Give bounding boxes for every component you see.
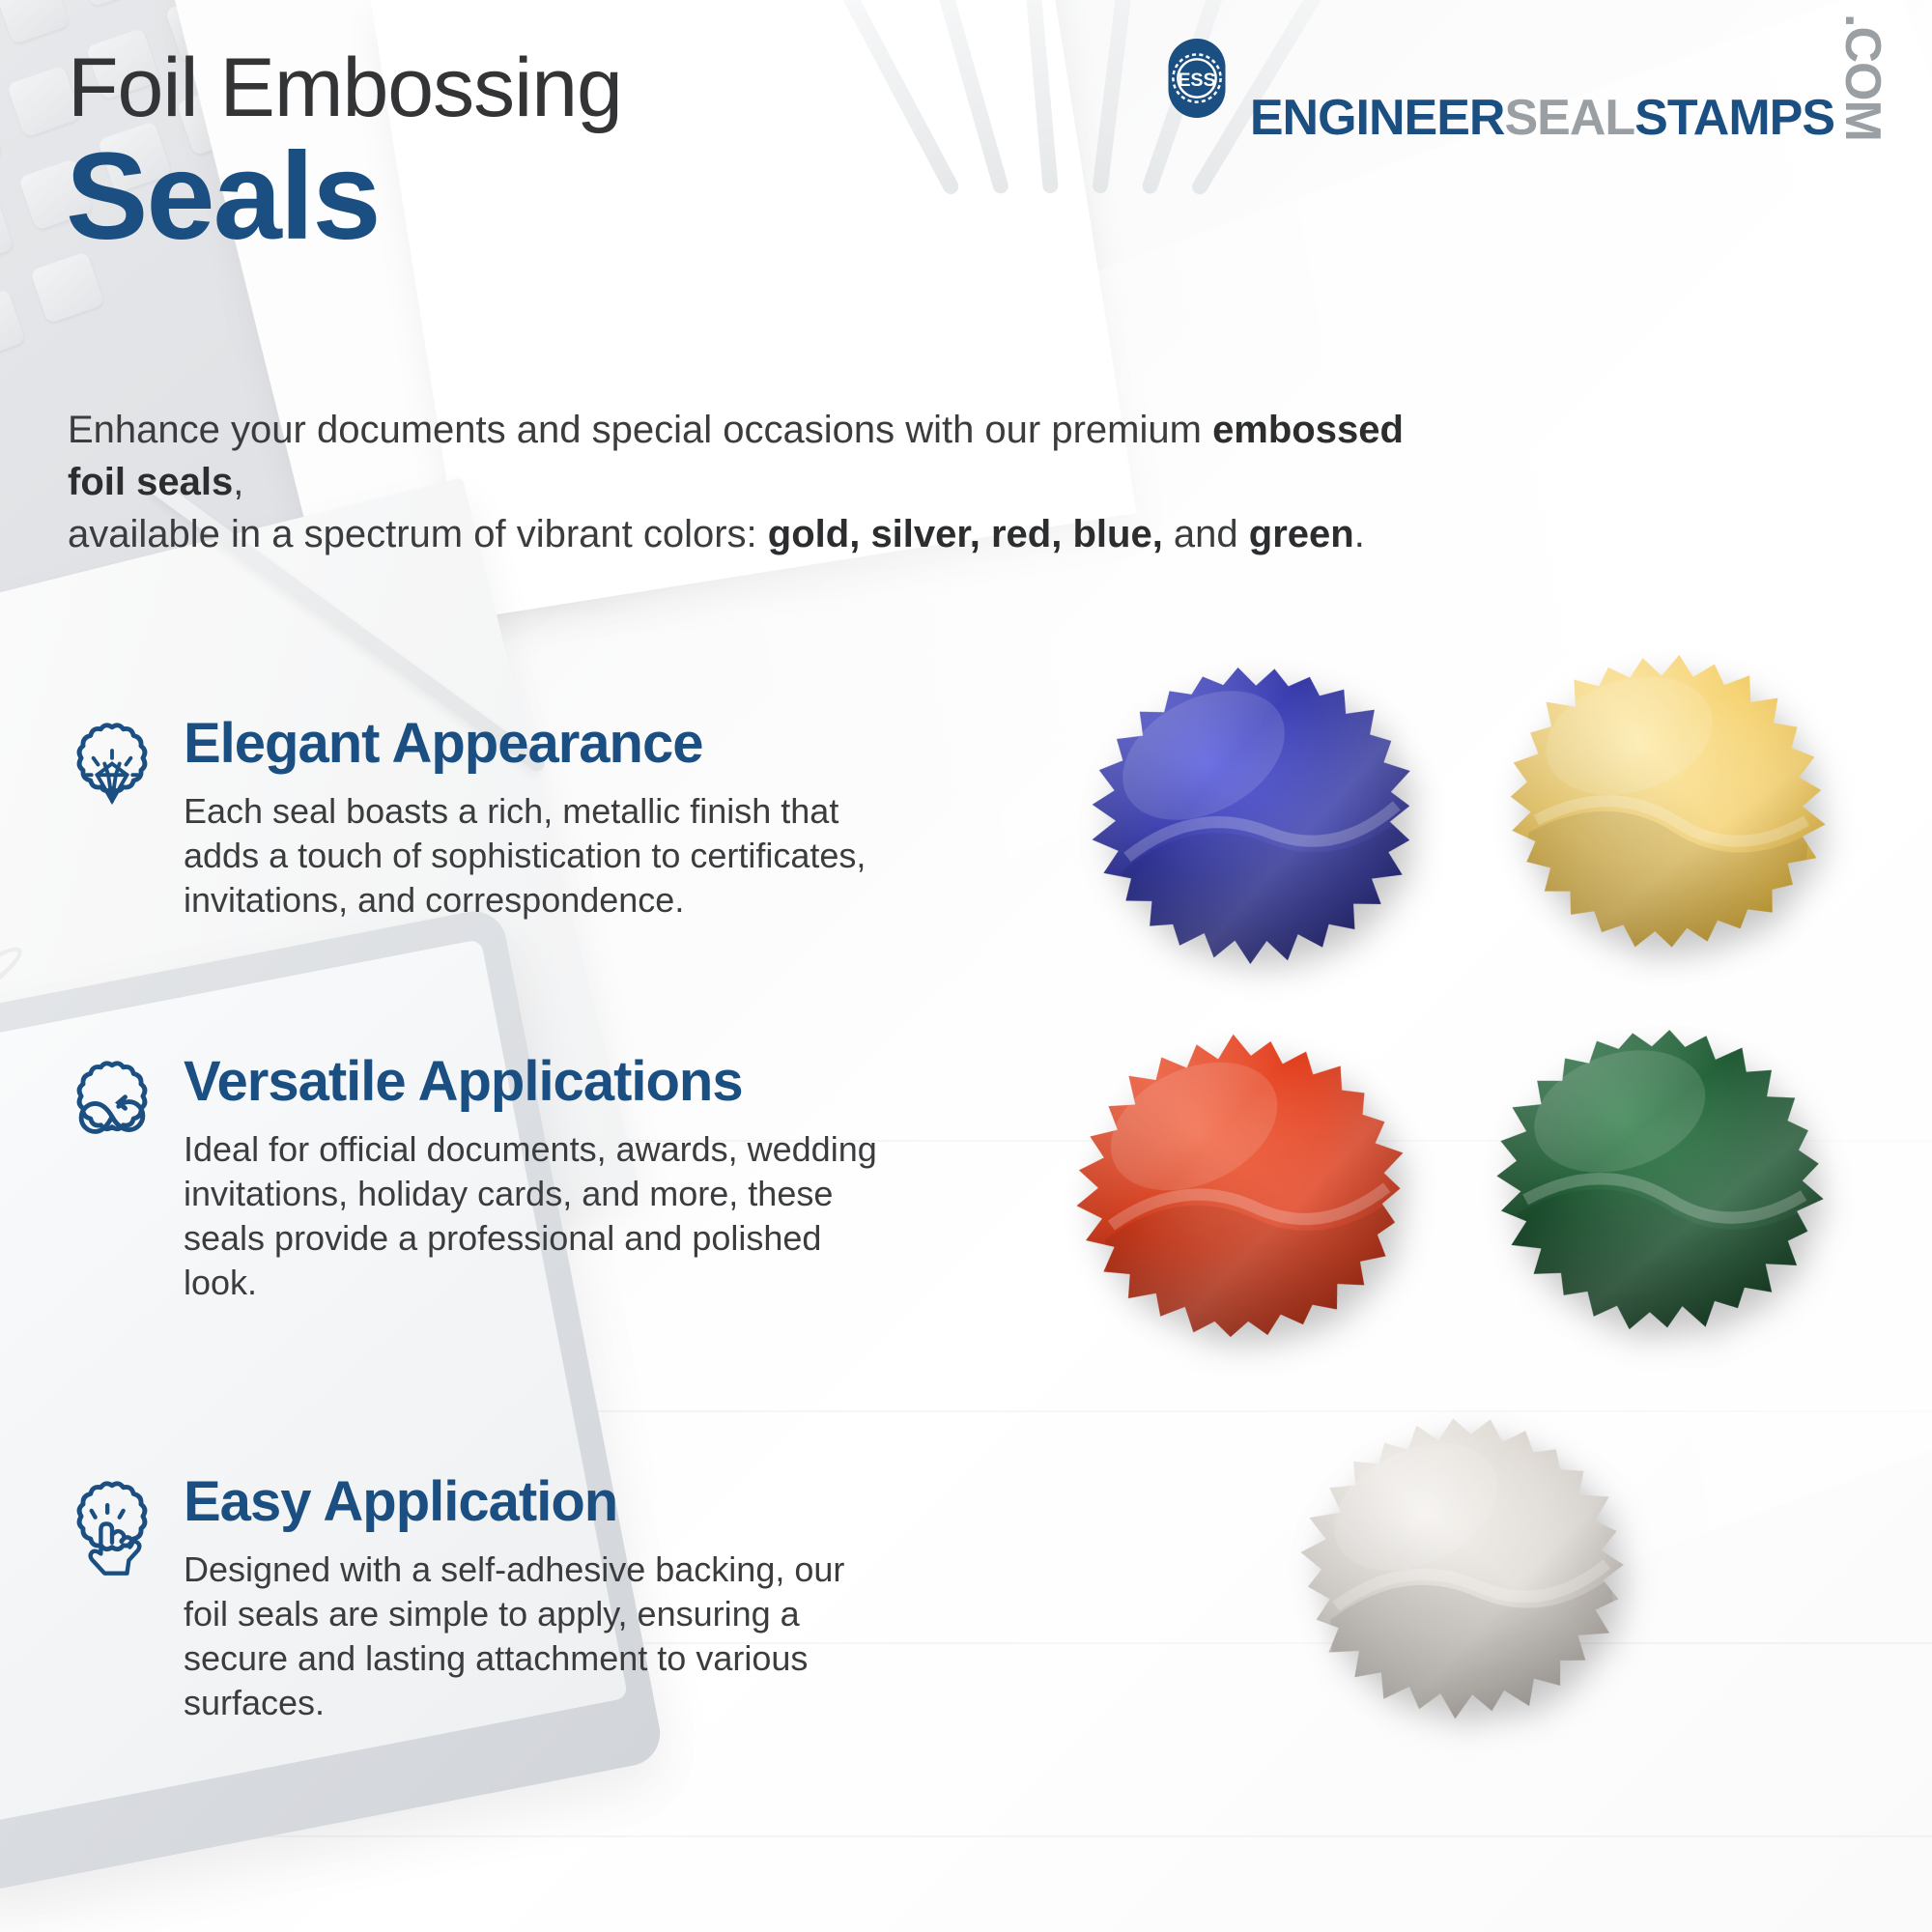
logo-word-stamps: STAMPS	[1634, 93, 1834, 143]
seal-blue[interactable]	[1051, 629, 1456, 999]
intro-line2-e: .	[1354, 513, 1365, 555]
seal-shape-blue	[1051, 629, 1456, 999]
seal-shape-red	[1044, 1009, 1438, 1367]
seal-silver[interactable]	[1264, 1388, 1662, 1747]
logo-word-engineer: ENGINEER	[1250, 93, 1505, 143]
ess-gear-logo-icon: ESS	[1157, 39, 1236, 118]
pointing-hand-icon	[56, 1481, 168, 1593]
logo-word-tld: .COM	[1837, 14, 1888, 141]
seal-red[interactable]	[1044, 1009, 1438, 1367]
intro-line2-a: available in a spectrum of vibrant color…	[68, 513, 768, 555]
feature-title: Versatile Applications	[184, 1053, 887, 1112]
diamond-gem-icon	[56, 723, 168, 835]
intro-color-green: green	[1249, 513, 1354, 555]
feature-elegant-appearance: Elegant Appearance Each seal boasts a ri…	[56, 715, 887, 923]
feature-title: Elegant Appearance	[184, 715, 887, 774]
seal-shape-gold	[1464, 622, 1868, 982]
page-title-kicker: Foil Embossing	[68, 46, 622, 129]
seal-shape-silver	[1264, 1388, 1662, 1747]
feature-text: Designed with a self-adhesive backing, o…	[184, 1548, 887, 1725]
feature-text: Ideal for official documents, awards, we…	[184, 1127, 887, 1305]
page-title: Seals	[66, 135, 380, 259]
feature-title: Easy Application	[184, 1473, 887, 1532]
seal-green[interactable]	[1457, 997, 1861, 1361]
feature-text: Each seal boasts a rich, metallic finish…	[184, 789, 887, 923]
intro-line2-c: and	[1163, 513, 1249, 555]
intro-paragraph: Enhance your documents and special occas…	[68, 404, 1439, 560]
seal-gold[interactable]	[1464, 622, 1868, 982]
feature-versatile-applications: Versatile Applications Ideal for officia…	[56, 1053, 887, 1305]
seal-shape-green	[1457, 997, 1861, 1361]
brand-logo[interactable]: ESS ENGINEER SEAL STAMPS .COM	[1157, 14, 1888, 143]
infinity-loop-icon	[56, 1061, 168, 1173]
feature-easy-application: Easy Application Designed with a self-ad…	[56, 1473, 887, 1725]
logo-word-seal: SEAL	[1504, 93, 1634, 143]
logo-mark-text: ESS	[1178, 70, 1215, 91]
intro-line1-a: Enhance your documents and special occas…	[68, 409, 1212, 451]
intro-line1-c: ,	[233, 461, 243, 503]
intro-color-list: gold, silver, red, blue,	[768, 513, 1163, 555]
